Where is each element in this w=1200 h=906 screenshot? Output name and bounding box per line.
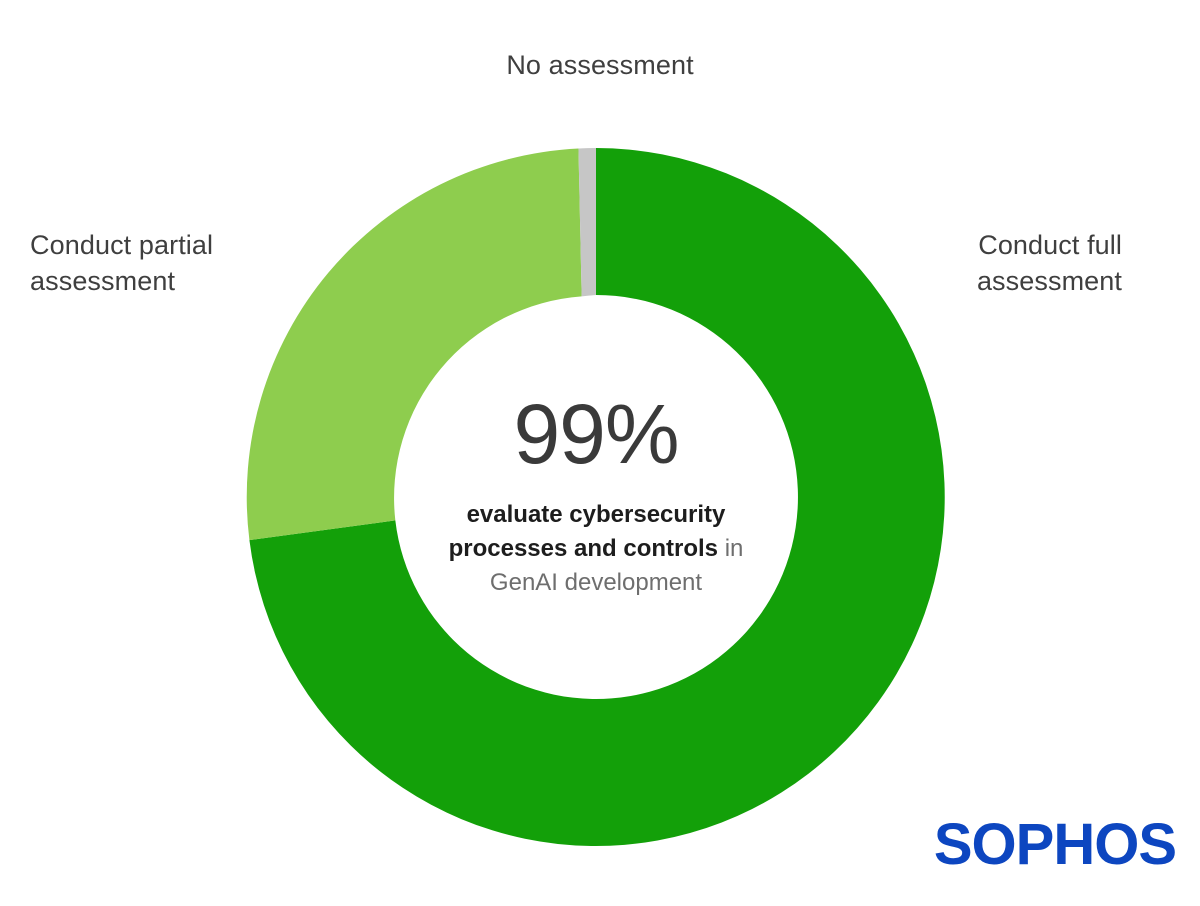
slice-value-conduct-partial-assessment: 27% <box>595 456 648 487</box>
donut-svg <box>246 147 946 847</box>
donut-slice-conduct-partial-assessment[interactable] <box>247 148 582 540</box>
chart-canvas: No assessment Conduct partial assessment… <box>0 0 1200 906</box>
sophos-logo: SOPHOS <box>934 816 1176 874</box>
donut-chart: 27% 73% <box>246 147 946 847</box>
callout-label-no-assessment: No assessment <box>0 48 1200 84</box>
